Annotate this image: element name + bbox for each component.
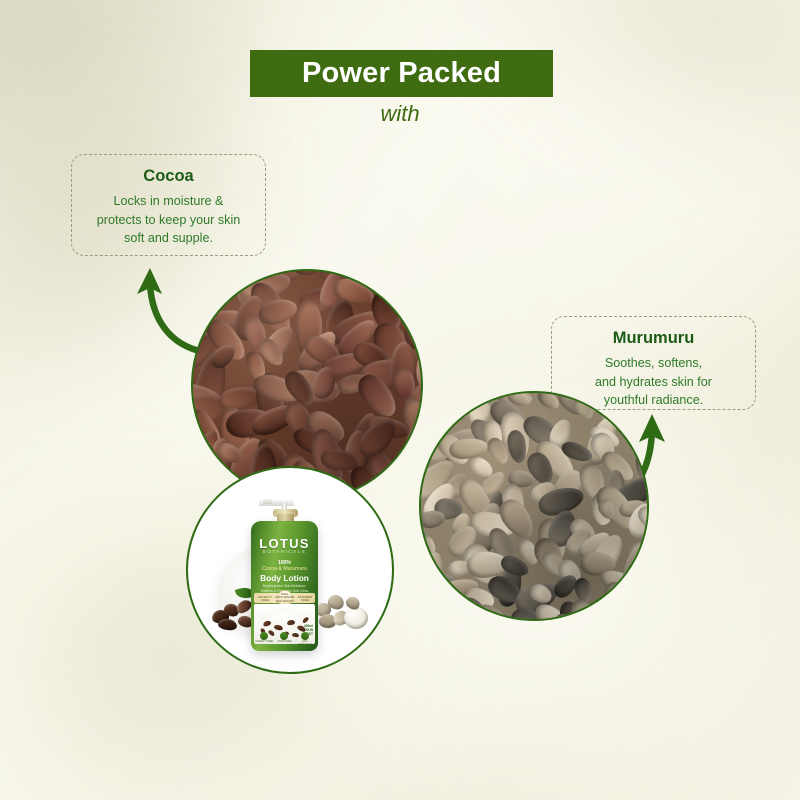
murumuru-nuts-prop xyxy=(316,593,368,637)
page-title: Power Packed xyxy=(302,59,501,88)
ingredient-image-cocoa xyxy=(191,269,423,501)
cocoa-chunk-prop xyxy=(217,618,237,632)
certification-badge-icon xyxy=(280,632,288,640)
cocoa-bean-texture xyxy=(193,271,421,499)
murumuru-nut-texture xyxy=(421,393,647,619)
poster-canvas: Power Packed with LOTUS xyxy=(0,0,800,800)
certification-badge: TOXIN FREE xyxy=(275,632,293,644)
label-product-name: Body Lotion xyxy=(251,574,318,582)
brand-subtitle: BOTANICALS xyxy=(251,550,318,554)
pump-nozzle xyxy=(263,499,272,504)
certification-badges: CRUELTY FREETOXIN FREEECO CONSCIOUS xyxy=(254,632,315,647)
certification-badge: ECO CONSCIOUS xyxy=(296,632,314,647)
callout-cocoa-body: Locks in moisture & protects to keep you… xyxy=(82,192,255,248)
certification-badge-icon xyxy=(260,632,268,640)
product-composition: LOTUS BOTANICALS 100% Cocoa & Murumuru B… xyxy=(188,468,392,672)
callout-cocoa: Cocoa Locks in moisture & protects to ke… xyxy=(71,154,266,256)
callout-cocoa-title: Cocoa xyxy=(82,167,255,185)
ingredient-image-murumuru xyxy=(419,391,649,621)
label-ingredients: Cocoa & Murumuru xyxy=(251,567,318,572)
coconut-shell xyxy=(344,607,368,629)
page-subtitle: with xyxy=(0,103,800,125)
pump-head xyxy=(259,499,294,506)
bottle-body: LOTUS BOTANICALS 100% Cocoa & Murumuru B… xyxy=(251,521,318,651)
certification-badge-label: ECO CONSCIOUS xyxy=(296,641,314,647)
callout-murumuru-title: Murumuru xyxy=(562,329,745,347)
product-bottle: LOTUS BOTANICALS 100% Cocoa & Murumuru B… xyxy=(251,503,318,651)
certification-badge: CRUELTY FREE xyxy=(255,632,273,644)
certification-badge-label: CRUELTY FREE xyxy=(255,641,273,644)
murumuru-nut xyxy=(566,597,602,621)
product-image-circle: LOTUS BOTANICALS 100% Cocoa & Murumuru B… xyxy=(186,466,394,674)
certification-badge-icon xyxy=(301,632,309,640)
certification-badge-label: TOXIN FREE xyxy=(275,641,293,644)
page-title-banner: Power Packed xyxy=(250,50,553,97)
cocoa-chunks-prop xyxy=(210,596,256,634)
